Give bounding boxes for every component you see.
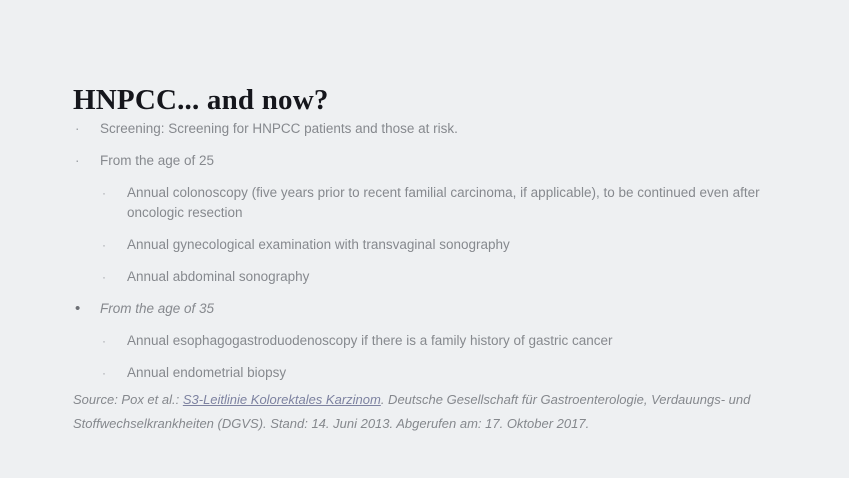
list-item-label: Annual colonoscopy (five years prior to … — [127, 183, 787, 223]
list-item: · Annual endometrial biopsy — [0, 363, 849, 383]
list-item-label: From the age of 35 — [100, 299, 789, 318]
list-item-label: Annual abdominal sonography — [127, 267, 787, 287]
bullet-marker-icon: · — [75, 119, 87, 138]
list-item: · Annual esophagogastroduodenoscopy if t… — [0, 331, 849, 351]
bullet-marker-icon: · — [102, 183, 114, 203]
bullet-marker-icon: · — [102, 235, 114, 255]
bullet-marker-icon: · — [102, 363, 114, 383]
list-item-label: Annual gynecological examination with tr… — [127, 235, 787, 255]
bullet-marker-icon: · — [102, 267, 114, 287]
bullet-marker-icon: • — [75, 299, 87, 318]
list-item: • From the age of 35 — [0, 299, 849, 318]
list-item: · Annual colonoscopy (five years prior t… — [0, 183, 849, 223]
list-item-label: Annual esophagogastroduodenoscopy if the… — [127, 331, 787, 351]
list-item-label: Screening: Screening for HNPCC patients … — [100, 119, 789, 138]
source-link[interactable]: S3-Leitlinie Kolorektales Karzinom — [183, 392, 381, 407]
source-prefix: Source: Pox et al.: — [73, 392, 183, 407]
bullet-marker-icon: · — [102, 331, 114, 351]
list-item-label: Annual endometrial biopsy — [127, 363, 787, 383]
page-title: HNPCC... and now? — [73, 83, 329, 117]
bullet-list: · Screening: Screening for HNPCC patient… — [0, 119, 849, 395]
list-item: · Annual abdominal sonography — [0, 267, 849, 287]
list-item: · Screening: Screening for HNPCC patient… — [0, 119, 849, 138]
list-item: · Annual gynecological examination with … — [0, 235, 849, 255]
source-citation: Source: Pox et al.: S3-Leitlinie Kolorek… — [73, 388, 813, 436]
bullet-marker-icon: · — [75, 151, 87, 170]
list-item: · From the age of 25 — [0, 151, 849, 170]
list-item-label: From the age of 25 — [100, 151, 789, 170]
slide-canvas: HNPCC... and now? · Screening: Screening… — [0, 0, 849, 478]
